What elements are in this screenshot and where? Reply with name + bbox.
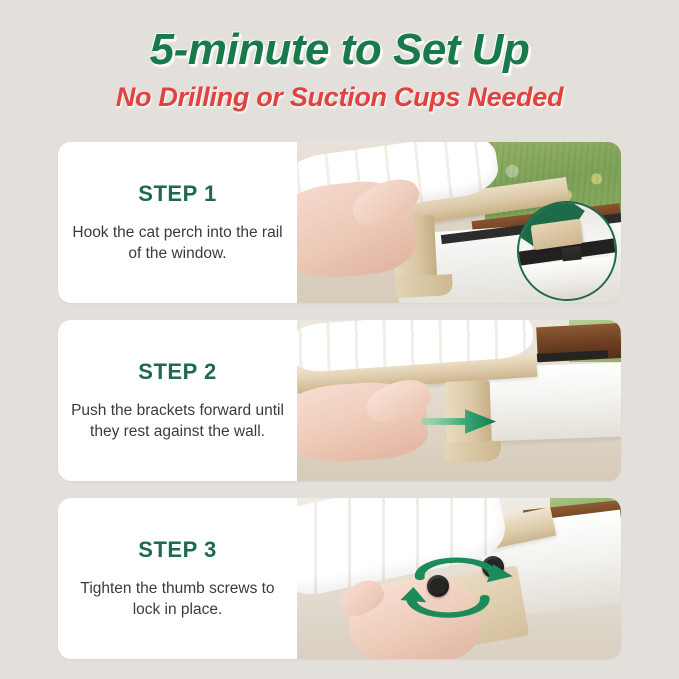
- steps-list: STEP 1 Hook the cat perch into the rail …: [58, 142, 621, 676]
- step-1-photo: [297, 142, 621, 303]
- step-3-label: STEP 3: [138, 537, 216, 563]
- step-2-label: STEP 2: [138, 359, 216, 385]
- step-3-text: STEP 3 Tighten the thumb screws to lock …: [58, 498, 297, 659]
- page-title: 5-minute to Set Up: [0, 28, 679, 72]
- step-2-description: Push the brackets forward until they res…: [66, 401, 289, 443]
- step-card-3: STEP 3 Tighten the thumb screws to lock …: [58, 498, 621, 659]
- step-2-photo: [297, 320, 621, 481]
- step-card-1: STEP 1 Hook the cat perch into the rail …: [58, 142, 621, 303]
- step-1-label: STEP 1: [138, 181, 216, 207]
- step-card-2: STEP 2 Push the brackets forward until t…: [58, 320, 621, 481]
- step-1-text: STEP 1 Hook the cat perch into the rail …: [58, 142, 297, 303]
- detail-inset-circle: [517, 201, 617, 301]
- step-3-photo: [297, 498, 621, 659]
- rotation-arrow-icon: [394, 543, 524, 620]
- forward-arrow-icon: [420, 407, 498, 436]
- header: 5-minute to Set Up No Drilling or Suctio…: [0, 0, 679, 111]
- step-2-text: STEP 2 Push the brackets forward until t…: [58, 320, 297, 481]
- step-3-description: Tighten the thumb screws to lock in plac…: [66, 579, 289, 621]
- step-1-description: Hook the cat perch into the rail of the …: [66, 223, 289, 265]
- page-subtitle: No Drilling or Suction Cups Needed: [0, 84, 679, 111]
